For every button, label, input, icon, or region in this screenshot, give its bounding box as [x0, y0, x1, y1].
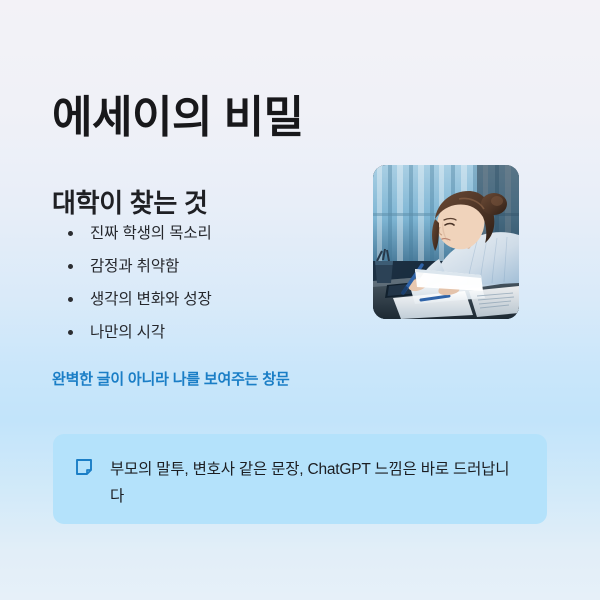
callout-box: 부모의 말투, 변호사 같은 문장, ChatGPT 느낌은 바로 드러납니다 [53, 434, 547, 524]
page-title: 에세이의 비밀 [52, 91, 304, 145]
list-item-label: 나만의 시각 [90, 321, 352, 344]
list-item: 진짜 학생의 목소리 [52, 222, 352, 255]
slide-canvas: 에세이의 비밀 대학이 찾는 것 진짜 학생의 목소리 감정과 취약함 생각의 … [0, 0, 600, 600]
bullet-dot-icon [68, 297, 73, 302]
bullet-list: 진짜 학생의 목소리 감정과 취약함 생각의 변화와 성장 나만의 시각 [52, 222, 352, 354]
bullet-dot-icon [68, 231, 73, 236]
accent-highlight-text: 완벽한 글이 아니라 나를 보여주는 창문 [52, 368, 289, 389]
list-item: 생각의 변화와 성장 [52, 288, 352, 321]
sticky-note-icon [75, 458, 93, 476]
list-item: 감정과 취약함 [52, 255, 352, 288]
bullet-dot-icon [68, 330, 73, 335]
list-item-label: 진짜 학생의 목소리 [90, 222, 352, 245]
callout-text: 부모의 말투, 변호사 같은 문장, ChatGPT 느낌은 바로 드러납니다 [110, 456, 521, 510]
list-item-label: 감정과 취약함 [90, 255, 352, 278]
list-item: 나만의 시각 [52, 321, 352, 354]
list-item-label: 생각의 변화와 성장 [90, 288, 352, 311]
bullet-dot-icon [68, 264, 73, 269]
section-subtitle: 대학이 찾는 것 [52, 187, 208, 220]
student-writing-photo [373, 165, 519, 319]
